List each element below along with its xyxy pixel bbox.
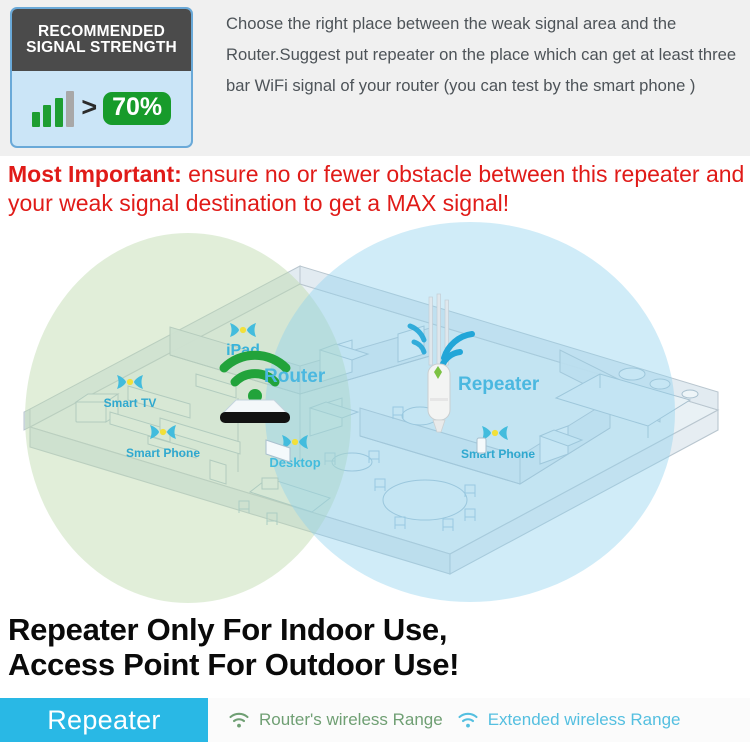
router-label: Router xyxy=(264,366,326,387)
footer-repeater-tag: Repeater xyxy=(0,698,208,742)
footer-repeater-tag-label: Repeater xyxy=(47,705,160,736)
floorplan-diagram: Smart TV Smart Phone iPad Desktop Smart … xyxy=(0,222,750,612)
signal-bars-icon xyxy=(32,91,75,127)
infographic-page: RECOMMENDED SIGNAL STRENGTH > 70% Choose… xyxy=(0,0,750,750)
badge-body: > 70% xyxy=(12,71,191,146)
headline-line1: Repeater Only For Indoor Use, xyxy=(8,612,750,647)
svg-text:Smart TV: Smart TV xyxy=(104,396,157,410)
legend-item-extended-range: Extended wireless Range xyxy=(457,710,681,730)
svg-text:Smart Phone: Smart Phone xyxy=(126,446,200,460)
footer-bar: Repeater Router's wireless Range xyxy=(0,698,750,742)
recommended-signal-strength-badge: RECOMMENDED SIGNAL STRENGTH > 70% xyxy=(10,7,193,148)
top-panel: RECOMMENDED SIGNAL STRENGTH > 70% Choose… xyxy=(0,0,750,156)
svg-text:Smart Phone: Smart Phone xyxy=(461,447,535,461)
footer-legend: Router's wireless Range Extended wireles… xyxy=(208,698,750,742)
wifi-icon xyxy=(228,711,250,729)
legend-item-router-range: Router's wireless Range xyxy=(228,710,443,730)
bottom-headline: Repeater Only For Indoor Use, Access Poi… xyxy=(8,612,750,682)
percent-threshold: 70% xyxy=(103,92,171,125)
wifi-icon xyxy=(457,711,479,729)
intro-text: Choose the right place between the weak … xyxy=(226,8,738,101)
greater-than-symbol: > xyxy=(81,94,97,121)
repeater-label: Repeater xyxy=(458,374,540,395)
important-note: Most Important: ensure no or fewer obsta… xyxy=(8,160,750,218)
legend-label-extended-range: Extended wireless Range xyxy=(488,710,681,730)
important-note-lead: Most Important: xyxy=(8,161,182,187)
badge-header-line2: SIGNAL STRENGTH xyxy=(26,40,177,56)
legend-label-router-range: Router's wireless Range xyxy=(259,710,443,730)
extended-range-circle xyxy=(265,222,675,602)
headline-line2: Access Point For Outdoor Use! xyxy=(8,647,750,682)
badge-header: RECOMMENDED SIGNAL STRENGTH xyxy=(12,9,191,71)
badge-header-line1: RECOMMENDED xyxy=(38,24,165,40)
